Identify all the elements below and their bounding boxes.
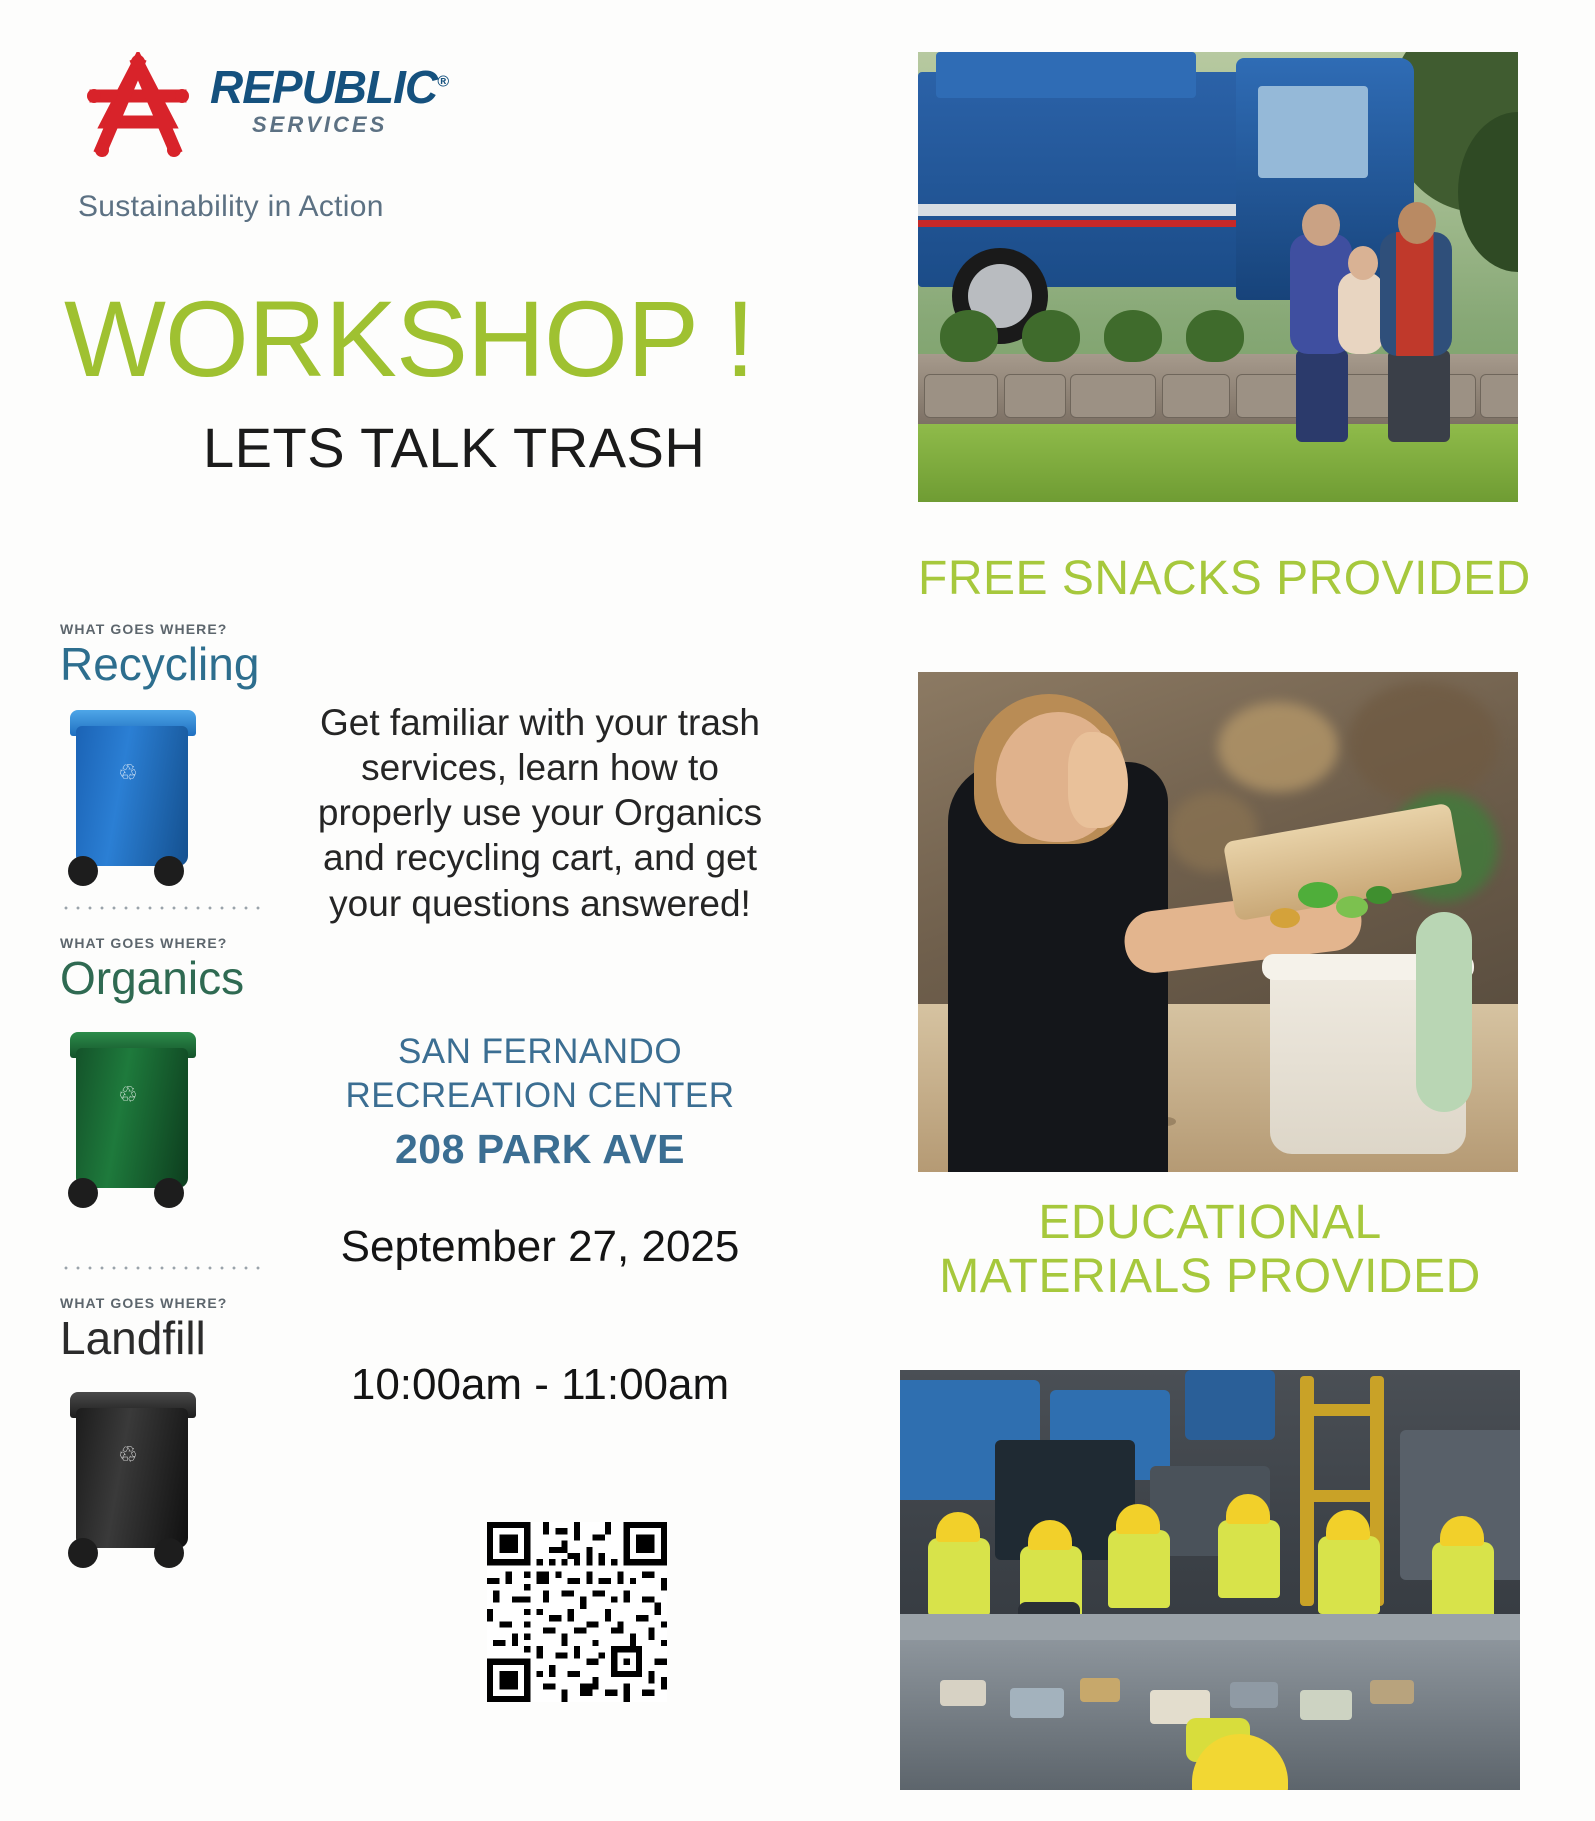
workshop-description: Get familiar with your trash services, l… (300, 700, 780, 926)
recyclable-item (1300, 1690, 1352, 1720)
venue-address: 208 PARK AVE (300, 1124, 780, 1175)
shrub (1022, 310, 1080, 362)
worker-vest (928, 1538, 990, 1616)
category-organics: WHAT GOES WHERE? Organics (60, 936, 310, 1002)
divider-dotted-2 (60, 1266, 268, 1270)
shrub (1104, 310, 1162, 362)
republic-wordmark: REPUBLIC® SERVICES (210, 64, 448, 136)
food-scraps (1270, 908, 1300, 928)
category-kicker: WHAT GOES WHERE? (60, 622, 310, 636)
organics-cart-icon: ♲ (62, 1022, 212, 1212)
venue-line-2: RECREATION CENTER (346, 1076, 735, 1115)
shrub (1186, 310, 1244, 362)
venue-line-1: SAN FERNANDO (398, 1032, 682, 1071)
logo-republic-text: REPUBLIC® (210, 64, 448, 110)
recycling-cart-icon: ♲ (62, 700, 212, 890)
logo-services-text: SERVICES (210, 114, 448, 136)
food-scraps (1366, 886, 1392, 904)
category-landfill: WHAT GOES WHERE? Landfill (60, 1296, 310, 1362)
recycle-symbol-icon: ♲ (110, 760, 146, 804)
venue-block: SAN FERNANDO RECREATION CENTER 208 PARK … (300, 1030, 780, 1175)
category-recycling: WHAT GOES WHERE? Recycling (60, 622, 310, 688)
worker-vest (1318, 1536, 1380, 1614)
person-adult-man (1380, 232, 1452, 356)
category-kicker: WHAT GOES WHERE? (60, 1296, 310, 1310)
category-name: Landfill (60, 1314, 310, 1362)
flyer-page: REPUBLIC® SERVICES Sustainability in Act… (0, 0, 1595, 1821)
photo-woman-scraping-food-scraps-into-compost-bin (918, 672, 1518, 1172)
recycle-symbol-icon: ♲ (110, 1082, 146, 1126)
recycle-symbol-icon: ♲ (110, 1442, 146, 1486)
republic-services-logo: REPUBLIC® SERVICES (78, 52, 498, 172)
cart-wheel-left (68, 856, 98, 886)
category-kicker: WHAT GOES WHERE? (60, 936, 310, 950)
person-head (1398, 202, 1436, 244)
person-head (1302, 204, 1340, 246)
worker-vest (1432, 1542, 1494, 1620)
page-title: WORKSHOP ! (64, 285, 754, 393)
promo-educational-materials: EDUCATIONAL MATERIALS PROVIDED (880, 1196, 1540, 1304)
worker-vest (1108, 1530, 1170, 1608)
food-scraps (1336, 896, 1368, 918)
cart-wheel-right (154, 1538, 184, 1568)
food-scraps (1298, 882, 1338, 908)
bin-handle (1416, 912, 1472, 1112)
shrub (940, 310, 998, 362)
recyclable-item (1230, 1682, 1278, 1708)
truck-hopper (936, 52, 1196, 98)
duct (1185, 1370, 1275, 1440)
republic-star-icon (78, 52, 198, 164)
qr-code[interactable] (487, 1522, 667, 1702)
category-name: Recycling (60, 640, 310, 688)
page-subtitle: LETS TALK TRASH (203, 420, 705, 476)
brand-tagline: Sustainability in Action (78, 190, 384, 224)
truck-windshield (1258, 86, 1368, 178)
cart-wheel-right (154, 856, 184, 886)
qr-code-icon (487, 1522, 667, 1702)
truck-body (918, 72, 1248, 287)
promo-edu-line-1: EDUCATIONAL (1038, 1196, 1381, 1249)
photo-workers-sorting-recyclables-on-conveyor (900, 1370, 1520, 1790)
conveyor-rail (900, 1614, 1520, 1640)
divider-dotted-1 (60, 906, 268, 910)
recyclable-item (1080, 1678, 1120, 1702)
promo-edu-line-2: MATERIALS PROVIDED (939, 1250, 1481, 1303)
person-head (1348, 246, 1378, 280)
landfill-cart-icon: ♲ (62, 1382, 212, 1572)
event-date: September 27, 2025 (300, 1222, 780, 1272)
cart-wheel-left (68, 1538, 98, 1568)
safety-rail (1300, 1490, 1384, 1502)
person-child (1338, 272, 1384, 354)
worker-vest (1218, 1520, 1280, 1598)
registered-mark: ® (437, 74, 448, 91)
recyclable-item (1010, 1688, 1064, 1718)
event-time: 10:00am - 11:00am (300, 1360, 780, 1410)
recyclable-item (940, 1680, 986, 1706)
photo-collection-truck-with-family (918, 52, 1518, 502)
promo-free-snacks: FREE SNACKS PROVIDED (918, 552, 1518, 606)
cart-wheel-left (68, 1178, 98, 1208)
safety-rail (1300, 1404, 1384, 1416)
category-name: Organics (60, 954, 310, 1002)
cart-wheel-right (154, 1178, 184, 1208)
recyclable-item (1370, 1680, 1414, 1704)
